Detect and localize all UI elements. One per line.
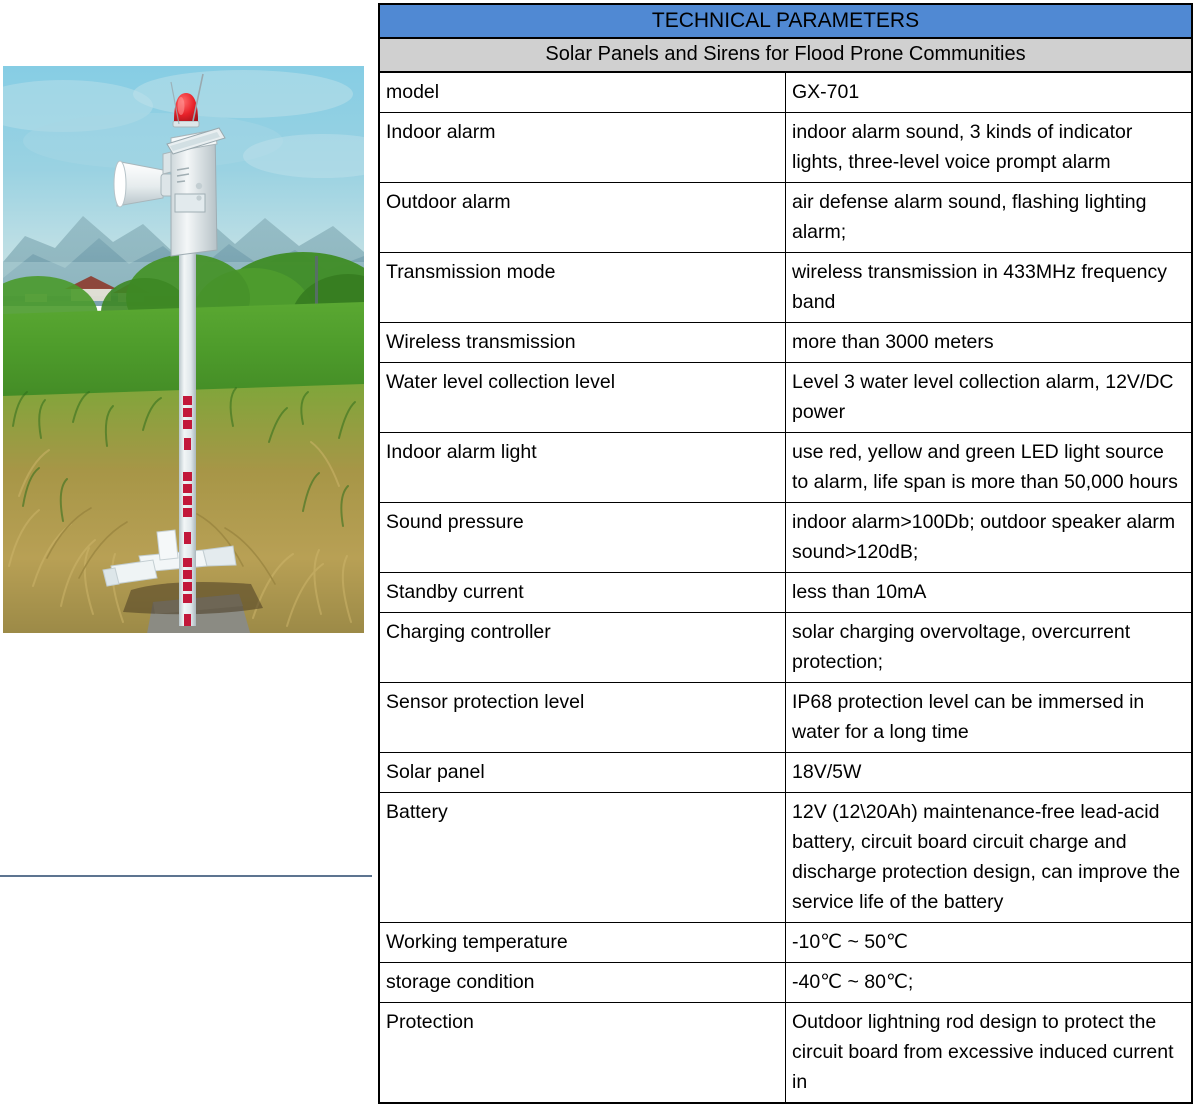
table-row: Sensor protection levelIP68 protection l… bbox=[379, 683, 1192, 753]
spec-label: Outdoor alarm bbox=[379, 183, 786, 253]
spec-value: -10℃ ~ 50℃ bbox=[786, 923, 1193, 963]
spec-value: GX-701 bbox=[786, 72, 1193, 113]
spec-value: 12V (12\20Ah) maintenance-free lead-acid… bbox=[786, 793, 1193, 923]
product-photo bbox=[3, 66, 364, 633]
spec-label: Working temperature bbox=[379, 923, 786, 963]
bottom-divider-rule bbox=[0, 875, 372, 877]
table-row: Working temperature -10℃ ~ 50℃ bbox=[379, 923, 1192, 963]
table-subtitle: Solar Panels and Sirens for Flood Prone … bbox=[379, 38, 1192, 72]
technical-parameters-table: TECHNICAL PARAMETERS Solar Panels and Si… bbox=[378, 3, 1193, 1104]
spec-label: Charging controller bbox=[379, 613, 786, 683]
spec-value: indoor alarm sound, 3 kinds of indicator… bbox=[786, 113, 1193, 183]
table-row: Outdoor alarmair defense alarm sound, fl… bbox=[379, 183, 1192, 253]
table-row: Wireless transmissionmore than 3000 mete… bbox=[379, 323, 1192, 363]
spec-value: Outdoor lightning rod design to protect … bbox=[786, 1003, 1193, 1104]
table-row: modelGX-701 bbox=[379, 72, 1192, 113]
table-row: storage condition-40℃ ~ 80℃; bbox=[379, 963, 1192, 1003]
spec-label: model bbox=[379, 72, 786, 113]
table-row: Transmission modewireless transmission i… bbox=[379, 253, 1192, 323]
product-photo-illustration bbox=[3, 66, 364, 633]
table-row: ProtectionOutdoor lightning rod design t… bbox=[379, 1003, 1192, 1104]
spec-value: 18V/5W bbox=[786, 753, 1193, 793]
spec-value: air defense alarm sound, flashing lighti… bbox=[786, 183, 1193, 253]
spec-label: Indoor alarm bbox=[379, 113, 786, 183]
spec-value: wireless transmission in 433MHz frequenc… bbox=[786, 253, 1193, 323]
technical-parameters-table-wrapper: TECHNICAL PARAMETERS Solar Panels and Si… bbox=[378, 3, 1193, 1104]
table-row: Charging controllersolar charging overvo… bbox=[379, 613, 1192, 683]
spec-label: Battery bbox=[379, 793, 786, 923]
spec-value: solar charging overvoltage, overcurrent … bbox=[786, 613, 1193, 683]
table-row: Standby currentless than 10mA bbox=[379, 573, 1192, 613]
spec-value: use red, yellow and green LED light sour… bbox=[786, 433, 1193, 503]
table-row: Indoor alarmindoor alarm sound, 3 kinds … bbox=[379, 113, 1192, 183]
spec-label: Transmission mode bbox=[379, 253, 786, 323]
table-row: Battery12V (12\20Ah) maintenance-free le… bbox=[379, 793, 1192, 923]
table-row: Water level collection levelLevel 3 wate… bbox=[379, 363, 1192, 433]
table-row: Indoor alarm lightuse red, yellow and gr… bbox=[379, 433, 1192, 503]
spec-value: -40℃ ~ 80℃; bbox=[786, 963, 1193, 1003]
spec-value: indoor alarm>100Db; outdoor speaker alar… bbox=[786, 503, 1193, 573]
spec-label: Water level collection level bbox=[379, 363, 786, 433]
table-row: Solar panel18V/5W bbox=[379, 753, 1192, 793]
spec-label: Sound pressure bbox=[379, 503, 786, 573]
spec-value: IP68 protection level can be immersed in… bbox=[786, 683, 1193, 753]
spec-label: Indoor alarm light bbox=[379, 433, 786, 503]
table-subtitle-row: Solar Panels and Sirens for Flood Prone … bbox=[379, 38, 1192, 72]
table-title-row: TECHNICAL PARAMETERS bbox=[379, 4, 1192, 38]
spec-value: less than 10mA bbox=[786, 573, 1193, 613]
spec-label: Standby current bbox=[379, 573, 786, 613]
spec-label: Solar panel bbox=[379, 753, 786, 793]
spec-label: Wireless transmission bbox=[379, 323, 786, 363]
table-row: Sound pressureindoor alarm>100Db; outdoo… bbox=[379, 503, 1192, 573]
spec-value: Level 3 water level collection alarm, 12… bbox=[786, 363, 1193, 433]
spec-value: more than 3000 meters bbox=[786, 323, 1193, 363]
table-title: TECHNICAL PARAMETERS bbox=[379, 4, 1192, 38]
spec-label: storage condition bbox=[379, 963, 786, 1003]
spec-label: Sensor protection level bbox=[379, 683, 786, 753]
spec-label: Protection bbox=[379, 1003, 786, 1104]
